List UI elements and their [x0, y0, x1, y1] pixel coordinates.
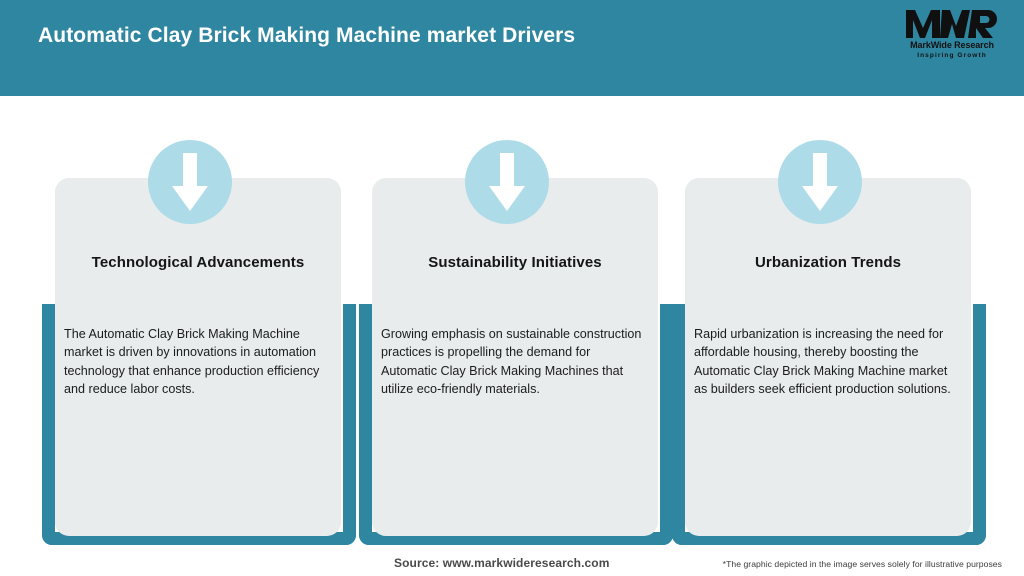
drivers-card-row: Technological Advancements The Automatic…	[0, 96, 1024, 546]
arrow-down-icon	[802, 153, 838, 211]
icon-circle-badge	[465, 140, 549, 224]
card-heading: Technological Advancements	[55, 254, 341, 271]
arrow-down-icon	[172, 153, 208, 211]
brand-logo: MarkWide Research Inspiring Growth	[900, 8, 1004, 66]
page-title: Automatic Clay Brick Making Machine mark…	[38, 24, 575, 48]
card-panel: Urbanization Trends Rapid urbanization i…	[685, 178, 971, 536]
logo-company-name: MarkWide Research	[900, 40, 1004, 51]
disclaimer-note: *The graphic depicted in the image serve…	[723, 559, 1002, 569]
card-heading: Sustainability Initiatives	[372, 254, 658, 271]
driver-card-2[interactable]: Sustainability Initiatives Growing empha…	[357, 96, 673, 546]
driver-card-3[interactable]: Urbanization Trends Rapid urbanization i…	[670, 96, 986, 546]
arrow-down-icon	[489, 153, 525, 211]
mwr-logo-icon	[904, 8, 1000, 40]
icon-circle-badge	[778, 140, 862, 224]
card-body-text: Growing emphasis on sustainable construc…	[381, 325, 649, 399]
card-panel: Sustainability Initiatives Growing empha…	[372, 178, 658, 536]
card-body-text: The Automatic Clay Brick Making Machine …	[64, 325, 332, 399]
card-body-text: Rapid urbanization is increasing the nee…	[694, 325, 962, 399]
card-heading: Urbanization Trends	[685, 254, 971, 271]
logo-tagline: Inspiring Growth	[900, 51, 1004, 60]
icon-circle-badge	[148, 140, 232, 224]
source-label: Source: www.markwideresearch.com	[394, 556, 610, 570]
driver-card-1[interactable]: Technological Advancements The Automatic…	[40, 96, 356, 546]
header-bar	[0, 0, 1024, 96]
card-panel: Technological Advancements The Automatic…	[55, 178, 341, 536]
